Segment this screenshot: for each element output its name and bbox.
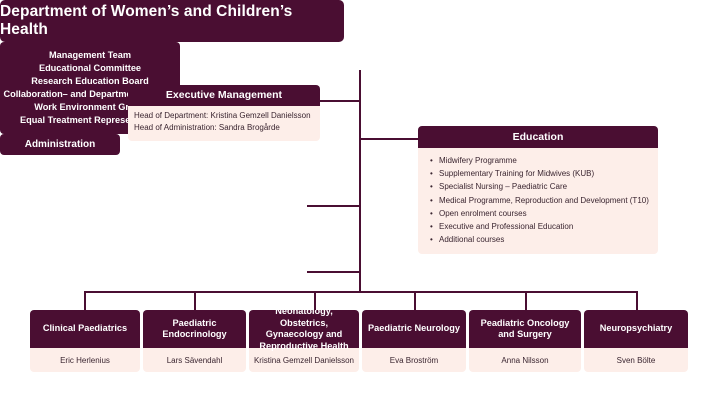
education-heading: Education [418, 126, 658, 148]
list-item: Executive and Professional Education [439, 220, 650, 233]
connector-drop-neuropsychiatry [636, 291, 638, 310]
division-head: Eric Herlenius [30, 348, 140, 372]
connector-management-branch [307, 205, 360, 207]
list-item: Supplementary Training for Midwives (KUB… [439, 167, 650, 180]
connector-exec-branch [320, 100, 360, 102]
division-head: Anna Nilsson [469, 348, 581, 372]
division-clinical-paediatrics: Clinical Paediatrics Eric Herlenius [30, 310, 140, 372]
division-neuropsychiatry: Neuropsychiatry Sven Bölte [584, 310, 688, 372]
connector-division-bus [84, 291, 637, 293]
list-item: Additional courses [439, 233, 650, 246]
head-of-administration: Head of Administration: Sandra Brogårde [134, 122, 314, 134]
executive-management-heading: Executive Management [128, 85, 320, 106]
connector-drop-oncology-surgery [525, 291, 527, 310]
connector-title-spine [359, 70, 361, 292]
division-name: Paediatric Endocrinology [143, 310, 246, 348]
administration-box: Administration [0, 134, 120, 155]
management-team-line: Educational Committee [39, 62, 141, 75]
page-title: Department of Women’s and Children’s Hea… [0, 3, 344, 39]
division-head: Sven Bölte [584, 348, 688, 372]
education-body: Midwifery Programme Supplementary Traini… [418, 148, 658, 254]
division-name: Clinical Paediatrics [30, 310, 140, 348]
executive-management-box: Executive Management Head of Department:… [128, 85, 320, 141]
head-of-department: Head of Department: Kristina Gemzell Dan… [134, 110, 314, 122]
division-head: Lars Sävendahl [143, 348, 246, 372]
connector-drop-paediatric-neurology [414, 291, 416, 310]
division-neonatology-obstetrics-gynaecology: Neonatology, Obstetrics, Gynaecology and… [249, 310, 359, 372]
division-paediatric-neurology: Paediatric Neurology Eva Broström [362, 310, 466, 372]
connector-administration-branch [307, 271, 360, 273]
department-title-box: Department of Women’s and Children’s Hea… [0, 0, 344, 42]
division-paediatric-oncology-surgery: Peadiatric Oncology and Surgery Anna Nil… [469, 310, 581, 372]
executive-management-body: Head of Department: Kristina Gemzell Dan… [128, 106, 320, 141]
division-name: Neonatology, Obstetrics, Gynaecology and… [249, 310, 359, 348]
connector-drop-paediatric-endocrinology [194, 291, 196, 310]
education-box: Education Midwifery Programme Supplement… [418, 126, 658, 254]
connector-drop-neonatology [314, 291, 316, 310]
education-list: Midwifery Programme Supplementary Traini… [428, 154, 650, 246]
list-item: Specialist Nursing – Paediatric Care [439, 180, 650, 193]
division-name: Neuropsychiatry [584, 310, 688, 348]
org-chart: Department of Women’s and Children’s Hea… [0, 0, 720, 405]
list-item: Open enrolment courses [439, 207, 650, 220]
division-head: Eva Broström [362, 348, 466, 372]
division-name: Paediatric Neurology [362, 310, 466, 348]
connector-drop-clinical-paediatrics [84, 291, 86, 310]
division-name: Peadiatric Oncology and Surgery [469, 310, 581, 348]
division-paediatric-endocrinology: Paediatric Endocrinology Lars Sävendahl [143, 310, 246, 372]
connector-education-branch [359, 138, 419, 140]
administration-label: Administration [25, 139, 96, 150]
management-team-line: Management Team [49, 49, 131, 62]
list-item: Medical Programme, Reproduction and Deve… [439, 194, 650, 207]
list-item: Midwifery Programme [439, 154, 650, 167]
